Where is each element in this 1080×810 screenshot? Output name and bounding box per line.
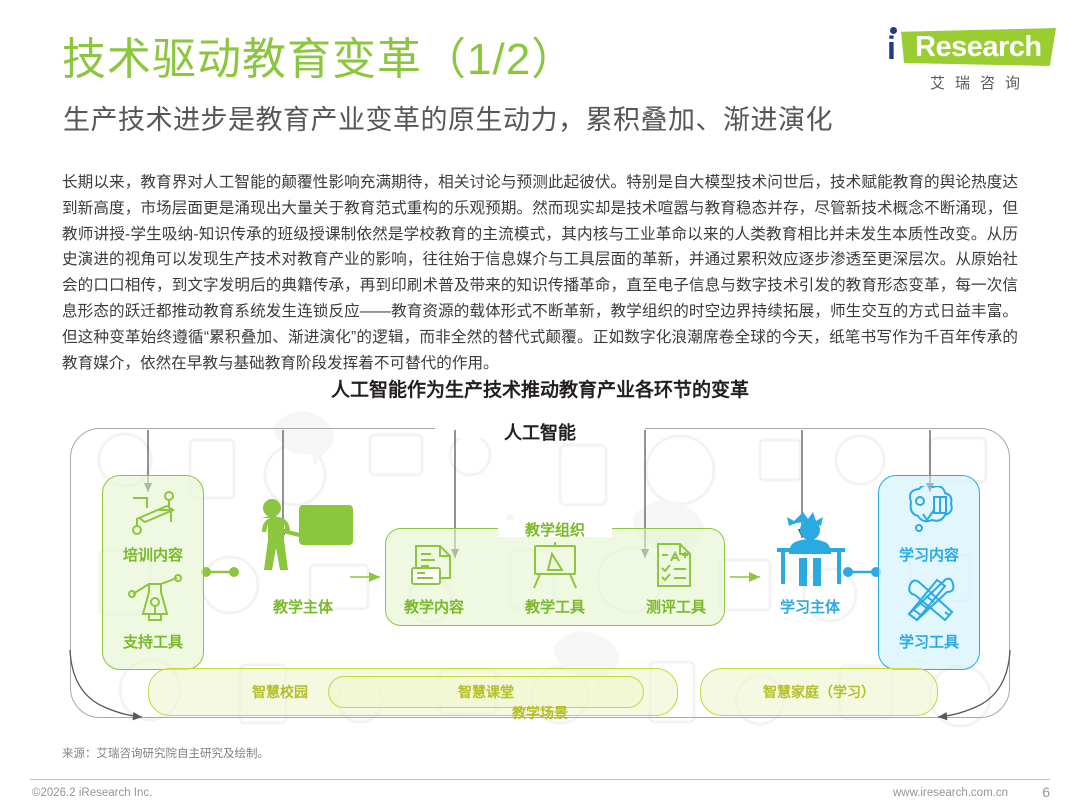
training-resources-card[interactable]: 培训内容 支持工具 bbox=[102, 475, 204, 670]
figure-title: 人工智能作为生产技术推动教育产业各环节的变革 bbox=[0, 375, 1080, 402]
source-note: 来源：艾瑞咨询研究院自主研究及绘制。 bbox=[62, 745, 269, 761]
iresearch-logo: i Research 艾瑞咨询 bbox=[873, 24, 1058, 96]
teaching-content-label: 教学内容 bbox=[392, 596, 476, 617]
footer-divider bbox=[30, 779, 1050, 780]
body-paragraph: 长期以来，教育界对人工智能的颠覆性影响充满期待，相关讨论与预测此起彼伏。特别是自… bbox=[62, 170, 1018, 376]
teacher-figure-icon bbox=[248, 498, 358, 588]
learning-tools-label: 学习工具 bbox=[879, 631, 979, 652]
logo-chinese-name: 艾瑞咨询 bbox=[905, 72, 1055, 93]
page-title: 技术驱动教育变革（1/2） bbox=[62, 33, 576, 87]
footer-page-number: 6 bbox=[1042, 784, 1050, 800]
learning-content-label: 学习内容 bbox=[879, 544, 979, 565]
brain-book-icon bbox=[901, 486, 959, 542]
logo-mark: i Research bbox=[873, 24, 1058, 70]
page-subtitle: 生产技术进步是教育产业变革的原生动力，累积叠加、渐进演化 bbox=[63, 103, 833, 137]
teaching-organization-label: 教学组织 bbox=[385, 519, 725, 540]
teaching-scenarios-label: 教学场景 bbox=[40, 703, 1040, 723]
slide-page: 技术驱动教育变革（1/2） 生产技术进步是教育产业变革的原生动力，累积叠加、渐进… bbox=[0, 0, 1080, 810]
teaching-subject-label: 教学主体 bbox=[248, 596, 358, 617]
student-desk-icon bbox=[765, 508, 855, 590]
logo-word-research: Research bbox=[915, 32, 1042, 62]
learning-subject-label: 学习主体 bbox=[760, 596, 860, 617]
assessment-tools-label: 测评工具 bbox=[634, 596, 718, 617]
easel-board-icon bbox=[526, 540, 584, 592]
logo-letter-i: i bbox=[887, 32, 896, 64]
footer-website: www.iresearch.com.cn bbox=[893, 787, 1008, 799]
support-tools-label: 支持工具 bbox=[103, 631, 203, 652]
pen-nib-icon bbox=[127, 572, 183, 626]
figure-canvas: 人工智能 bbox=[40, 400, 1040, 745]
pencil-ruler-icon bbox=[901, 572, 959, 626]
grade-sheet-icon bbox=[648, 541, 700, 591]
ruler-pencil-icon bbox=[125, 488, 183, 540]
teaching-tools-label: 教学工具 bbox=[513, 596, 597, 617]
footer-copyright: ©2026.2 iResearch Inc. bbox=[32, 787, 152, 799]
document-icon bbox=[406, 542, 462, 590]
learning-resources-card[interactable]: 学习内容 学习工具 bbox=[878, 475, 980, 670]
training-content-label: 培训内容 bbox=[103, 544, 203, 565]
